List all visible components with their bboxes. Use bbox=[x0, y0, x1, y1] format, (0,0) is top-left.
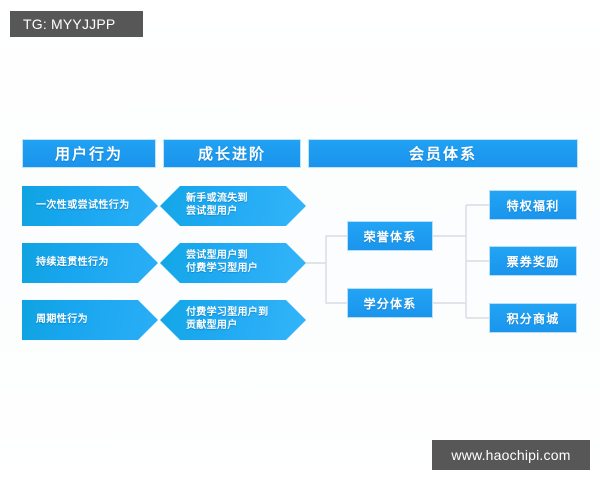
column-header-label: 用户行为 bbox=[55, 143, 123, 164]
progression-chevron-newbie-to-trial: 新手或流失到 尝试型用户 bbox=[160, 186, 306, 226]
membership-node-credit-system: 学分体系 bbox=[347, 288, 433, 318]
column-header-user-behavior: 用户行为 bbox=[22, 139, 156, 168]
progression-label-line2: 尝试型用户 bbox=[186, 206, 248, 219]
progression-text: 付费学习型用户到 贡献型用户 bbox=[186, 307, 268, 333]
reward-node-privilege-benefits: 特权福利 bbox=[489, 190, 577, 220]
flow-diagram-canvas: 用户行为 成长进阶 会员体系 一次性或尝试性行为 持续连贯性行为 周期性行为 新… bbox=[0, 0, 600, 480]
connector-branch-to-credit bbox=[326, 263, 347, 303]
column-header-growth-progression: 成长进阶 bbox=[163, 139, 301, 168]
connector-lines bbox=[0, 0, 600, 480]
progression-label-line1: 尝试型用户到 bbox=[186, 250, 258, 263]
progression-label-line2: 付费学习型用户 bbox=[186, 263, 258, 276]
membership-node-label: 荣誉体系 bbox=[364, 228, 417, 245]
progression-text: 新手或流失到 尝试型用户 bbox=[186, 193, 248, 219]
column-header-label: 会员体系 bbox=[409, 143, 477, 164]
behavior-chevron-periodic: 周期性行为 bbox=[22, 300, 158, 340]
behavior-chevron-continuous: 持续连贯性行为 bbox=[22, 243, 158, 283]
progression-chevron-trial-to-paid: 尝试型用户到 付费学习型用户 bbox=[160, 243, 306, 283]
progression-text: 尝试型用户到 付费学习型用户 bbox=[186, 250, 258, 276]
reward-node-label: 积分商城 bbox=[507, 310, 560, 327]
reward-node-label: 特权福利 bbox=[507, 197, 560, 214]
behavior-chevron-one-time: 一次性或尝试性行为 bbox=[22, 186, 158, 226]
reward-node-label: 票券奖励 bbox=[507, 253, 560, 270]
progression-label-line2: 贡献型用户 bbox=[186, 320, 268, 333]
behavior-label: 一次性或尝试性行为 bbox=[36, 200, 130, 213]
column-header-label: 成长进阶 bbox=[198, 143, 266, 164]
progression-label-line1: 新手或流失到 bbox=[186, 193, 248, 206]
progression-label-line1: 付费学习型用户到 bbox=[186, 307, 268, 320]
reward-node-points-mall: 积分商城 bbox=[489, 303, 577, 333]
behavior-label: 持续连贯性行为 bbox=[36, 257, 109, 270]
watermark-bottom-right: www.haochipi.com bbox=[432, 440, 590, 470]
membership-node-label: 学分体系 bbox=[364, 295, 417, 312]
watermark-top-left: TG: MYYJJPP bbox=[10, 11, 143, 37]
reward-node-coupon-rewards: 票券奖励 bbox=[489, 246, 577, 276]
progression-chevron-paid-to-contributor: 付费学习型用户到 贡献型用户 bbox=[160, 300, 306, 340]
membership-node-honor-system: 荣誉体系 bbox=[347, 221, 433, 251]
behavior-label: 周期性行为 bbox=[36, 314, 88, 327]
connector-branch-to-honor bbox=[326, 236, 347, 263]
column-header-membership-system: 会员体系 bbox=[308, 139, 578, 168]
